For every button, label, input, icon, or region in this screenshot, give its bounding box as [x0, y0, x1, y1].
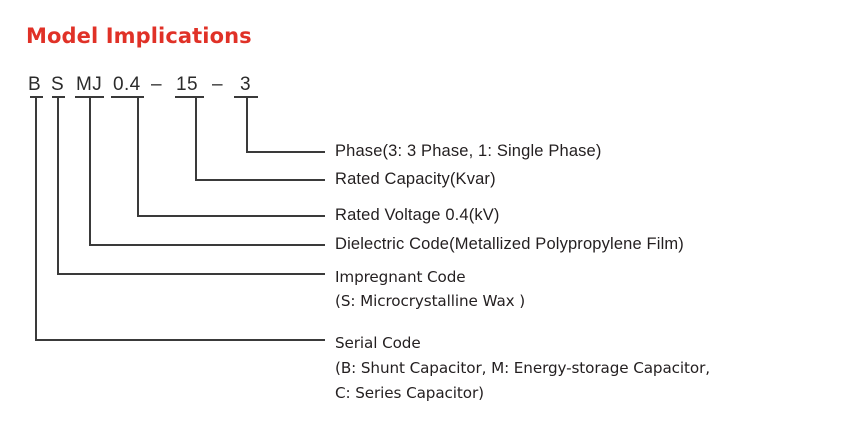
callout-label-rated-voltage: Rated Voltage 0.4(kV) — [335, 206, 500, 225]
callout-label-phase: Phase(3: 3 Phase, 1: Single Phase) — [335, 142, 602, 161]
leader-phase — [247, 97, 325, 152]
leader-rated-capacity — [196, 97, 325, 180]
leader-impregnant-code — [58, 97, 325, 274]
callout-text-dielectric-code: Dielectric Code(Metallized Polypropylene… — [335, 235, 684, 253]
callout-text-serial-code-detail-2: C: Series Capacitor) — [335, 381, 710, 406]
callout-text-rated-voltage: Rated Voltage 0.4(kV) — [335, 206, 500, 224]
leader-dielectric-code — [90, 97, 325, 245]
callout-text-phase: Phase(3: 3 Phase, 1: Single Phase) — [335, 142, 602, 160]
callout-text-impregnant-code: Impregnant Code — [335, 268, 466, 286]
leader-rated-voltage — [138, 97, 325, 216]
callout-label-dielectric-code: Dielectric Code(Metallized Polypropylene… — [335, 235, 684, 254]
callout-text-rated-capacity: Rated Capacity(Kvar) — [335, 170, 496, 188]
callout-label-rated-capacity: Rated Capacity(Kvar) — [335, 170, 496, 189]
leader-serial-code — [36, 97, 325, 340]
model-implications-diagram: Model Implications B S MJ 0.4 – 15 – 3 — [0, 0, 844, 431]
callout-text-serial-code-detail-1: (B: Shunt Capacitor, M: Energy-storage C… — [335, 356, 710, 381]
callout-text-serial-code: Serial Code — [335, 334, 421, 352]
callout-text-impregnant-code-detail: (S: Microcrystalline Wax ) — [335, 289, 525, 313]
callout-label-serial-code: Serial Code (B: Shunt Capacitor, M: Ener… — [335, 331, 710, 406]
callout-label-impregnant-code: Impregnant Code (S: Microcrystalline Wax… — [335, 265, 525, 313]
